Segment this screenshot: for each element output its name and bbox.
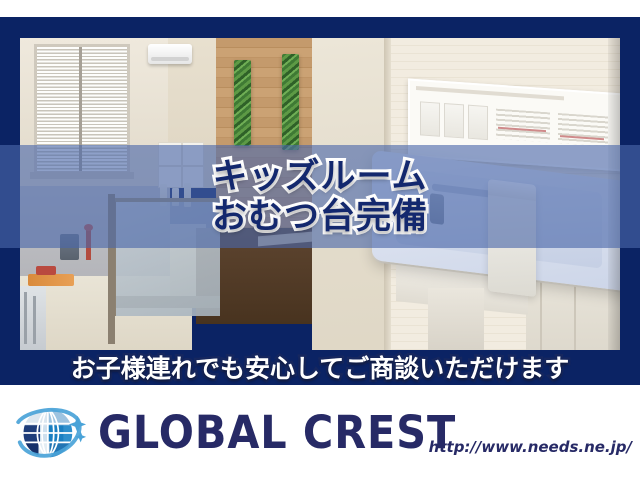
caption-block: お子様連れでも安心してご商談いただけます: [0, 348, 640, 386]
placard-pictogram: [420, 101, 440, 136]
placard-text-block: [558, 113, 608, 146]
promo-banner: キッズルーム おむつ台完備 お子様連れでも安心してご商談いただけます: [0, 0, 640, 480]
headline-block: キッズルーム おむつ台完備: [0, 143, 640, 251]
placard-text-block: [496, 109, 550, 143]
table-leg: [428, 288, 484, 350]
brand-name: GLOBAL CREST: [98, 406, 456, 459]
toy-box: [28, 274, 74, 286]
globe-icon: [12, 397, 90, 469]
green-wall-panel: [282, 54, 299, 150]
green-wall-panel: [234, 60, 251, 146]
headline-line-2: おむつ台完備: [212, 198, 428, 236]
website-url: http://www.needs.ne.jp/: [429, 438, 632, 456]
caption-text: お子様連れでも安心してご商談いただけます: [71, 349, 570, 385]
placard-pictogram: [468, 105, 488, 140]
toy-item: [36, 266, 56, 275]
placard-pictogram: [444, 103, 464, 138]
placard-header: [416, 86, 564, 100]
floor-rack: [20, 286, 46, 350]
headline-line-1: キッズルーム: [213, 158, 428, 196]
logo-bar: GLOBAL CREST http://www.needs.ne.jp/: [0, 385, 640, 480]
air-conditioner: [148, 44, 192, 64]
